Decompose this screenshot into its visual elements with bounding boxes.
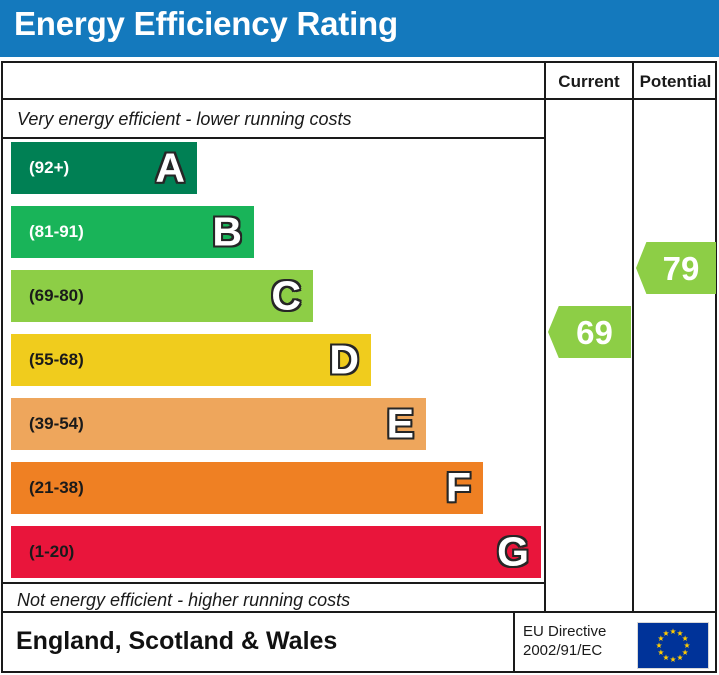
band-range-label: (1-20)	[29, 542, 74, 562]
band-c: (69-80)C	[11, 270, 313, 322]
footer-region-label: England, Scotland & Wales	[16, 627, 337, 656]
band-range-label: (21-38)	[29, 478, 84, 498]
band-d: (55-68)D	[11, 334, 371, 386]
band-letter-label: C	[271, 276, 301, 317]
band-g: (1-20)G	[11, 526, 541, 578]
column-header-current: Current	[546, 72, 632, 92]
eu-flag-icon	[637, 622, 709, 669]
band-b: (81-91)B	[11, 206, 254, 258]
band-range-label: (69-80)	[29, 286, 84, 306]
eu-flag-stars	[638, 623, 708, 668]
column-divider-potential	[632, 63, 634, 611]
column-divider-current	[544, 63, 546, 611]
footer: England, Scotland & Wales EU Directive 2…	[1, 613, 717, 673]
caption-divider-top	[3, 137, 544, 139]
rating-value-potential: 79	[653, 252, 700, 285]
band-range-label: (39-54)	[29, 414, 84, 434]
footer-divider	[513, 613, 515, 671]
footer-directive-line2: 2002/91/EC	[523, 642, 606, 661]
title-bar: Energy Efficiency Rating	[0, 0, 719, 57]
caption-efficient: Very energy efficient - lower running co…	[17, 109, 352, 130]
column-header-potential: Potential	[634, 72, 717, 92]
rating-arrow-current: 69	[548, 306, 631, 358]
footer-directive-line1: EU Directive	[523, 623, 606, 642]
band-range-label: (55-68)	[29, 350, 84, 370]
band-e: (39-54)E	[11, 398, 426, 450]
band-letter-label: F	[446, 468, 471, 509]
band-range-label: (81-91)	[29, 222, 84, 242]
rating-value-current: 69	[566, 316, 613, 349]
rating-arrow-potential: 79	[636, 242, 716, 294]
band-f: (21-38)F	[11, 462, 483, 514]
band-a: (92+)A	[11, 142, 197, 194]
band-letter-label: B	[212, 212, 242, 253]
column-header-row: Current Potential	[3, 63, 715, 100]
energy-efficiency-certificate: Energy Efficiency Rating Current Potenti…	[0, 0, 719, 675]
band-range-label: (92+)	[29, 158, 69, 178]
caption-inefficient: Not energy efficient - higher running co…	[17, 590, 350, 611]
band-letter-label: G	[497, 532, 529, 573]
caption-divider-bottom	[3, 582, 544, 584]
band-letter-label: A	[155, 148, 185, 189]
footer-directive: EU Directive 2002/91/EC	[523, 623, 606, 661]
page-title: Energy Efficiency Rating	[14, 5, 398, 43]
rating-chart: Current Potential Very energy efficient …	[1, 61, 717, 613]
band-letter-label: E	[387, 404, 414, 445]
band-letter-label: D	[329, 340, 359, 381]
